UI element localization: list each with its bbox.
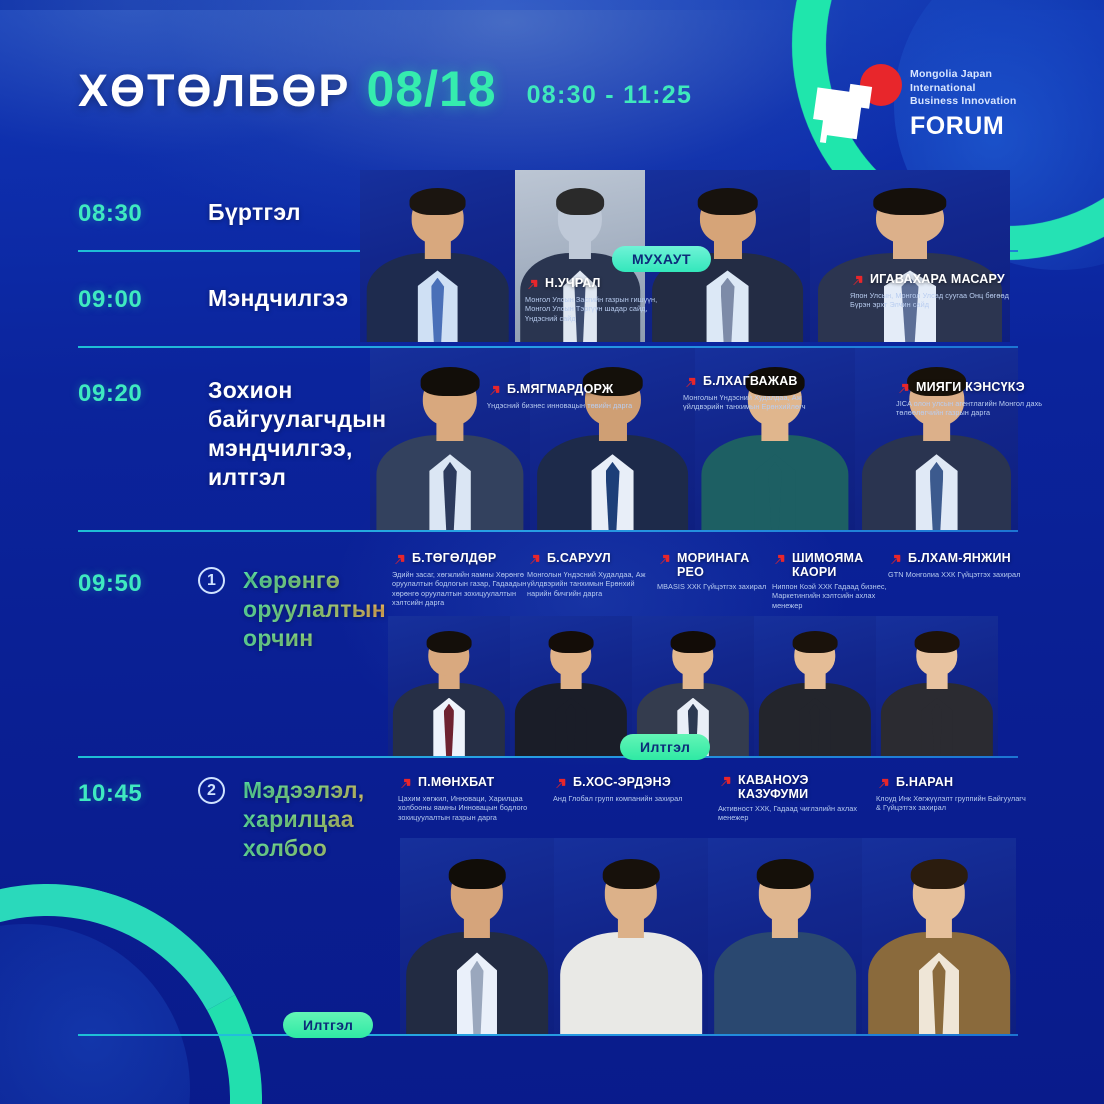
speaker-name: П.МӨНХБАТ (418, 775, 494, 789)
agenda-time: 09:50 (78, 570, 142, 598)
speaker-name: Б.САРУУЛ (547, 551, 611, 565)
speaker-role: Монголын Үндэсний Худалдаа, Аж үйлдвэрий… (527, 570, 657, 598)
arrow-up-right-icon (683, 375, 698, 390)
logo-line-2: International (910, 82, 1034, 96)
bottom-left-glow-decoration (0, 924, 190, 1104)
speaker-photo (530, 348, 695, 530)
speaker-role: Ниппон Коэй ХХК Гадаад бизнес, Маркетинг… (772, 582, 894, 610)
arrow-up-right-icon (525, 277, 540, 292)
speaker-name-card: ИГАВАХАРА МАСАРУЯпон Улсын, Монгол Улсад… (850, 272, 1015, 310)
speaker-name: МИЯГИ КЭНСҮКЭ (916, 380, 1025, 394)
arrow-up-right-icon (553, 776, 568, 791)
speaker-name-card: П.МӨНХБАТЦахим хөгжил, Инноваци, Харилца… (398, 775, 553, 822)
speaker-name: Б.ТӨГӨЛДӨР (412, 551, 496, 565)
logo-line-1: Mongolia Japan (910, 68, 1034, 82)
speaker-photo (876, 616, 998, 756)
speaker-name: Н.УЧРАЛ (545, 276, 601, 290)
arrow-up-right-icon (392, 552, 407, 567)
speaker-name-card: Н.УЧРАЛМонгол Улсын Засгийн газрын гишүү… (525, 276, 675, 323)
speaker-photo (708, 838, 862, 1034)
row-divider (78, 530, 1018, 532)
agenda-title: Мэдээлэл, харилцаа холбоо (243, 776, 413, 863)
speaker-name-card: Б.ХОС-ЭРДЭНЭАнд Глобал групп компанийн з… (553, 775, 703, 803)
speaker-name: ШИМОЯМА КАОРИ (792, 551, 894, 579)
speaker-role: MBASIS ХХК Гүйцэтгэх захирал (657, 582, 777, 591)
arrow-up-right-icon (876, 776, 891, 791)
speaker-name-card: Б.ЛХАМ-ЯНЖИНGTN Монголиа ХХК Гүйцэтгэх з… (888, 551, 1023, 579)
speaker-name-card: Б.САРУУЛМонголын Үндэсний Худалдаа, Аж ү… (527, 551, 657, 598)
bottom-left-arc-decoration (0, 833, 313, 1104)
agenda-session-number: 2 (198, 777, 225, 804)
arrow-up-right-icon (896, 381, 911, 396)
agenda-time: 10:45 (78, 780, 142, 808)
arrow-up-right-icon (772, 552, 787, 567)
speaker-photo (554, 838, 708, 1034)
title-block: ХӨТӨЛБӨР 08/18 08:30 - 11:25 (78, 60, 692, 118)
agenda-time: 09:20 (78, 380, 142, 408)
speaker-name-card: КАВАНОУЭ КАЗУФУМИАктивност ХХК, Гадаад ч… (718, 773, 858, 823)
speaker-name: Б.ХОС-ЭРДЭНЭ (573, 775, 671, 789)
agenda-time: 08:30 (78, 200, 142, 228)
logo-forum-text: FORUM (910, 112, 1034, 141)
pill-mukhaut: МУХАУТ (612, 246, 711, 272)
arrow-up-right-icon (398, 776, 413, 791)
program-poster: ХӨТӨЛБӨР 08/18 08:30 - 11:25 Mongolia Ja… (0, 0, 1104, 1104)
speaker-photo (862, 838, 1016, 1034)
speaker-role: Үндэсний бизнес инновацын төвийн дарга (487, 401, 639, 410)
speaker-photo-strip (400, 838, 1016, 1034)
arrow-up-right-icon (527, 552, 542, 567)
speaker-photo (510, 616, 632, 756)
speaker-role: Анд Глобал групп компанийн захирал (553, 794, 703, 803)
speaker-name: Б.НАРАН (896, 775, 953, 789)
speaker-role: JICA олон улсын агентлагийн Монгол дахь … (896, 399, 1048, 418)
arrow-up-right-icon (718, 774, 733, 789)
speaker-name-card: Б.ЛХАГВАЖАВМонголын Үндэсний Худалдаа, А… (683, 374, 833, 412)
agenda-time: 09:00 (78, 286, 142, 314)
speaker-name: Б.ЛХАГВАЖАВ (703, 374, 798, 388)
speaker-name-card: ШИМОЯМА КАОРИНиппон Коэй ХХК Гадаад бизн… (772, 551, 894, 610)
arrow-up-right-icon (812, 82, 886, 148)
speaker-role: Монгол Улсын Засгийн газрын гишүүн, Монг… (525, 295, 675, 323)
speaker-name-card: Б.ТӨГӨЛДӨРЭдийн засаг, хөгжлийн яамны Хө… (392, 551, 547, 607)
speaker-role: Цахим хөгжил, Инноваци, Харилцаа холбоон… (398, 794, 553, 822)
speaker-name: Б.ЛХАМ-ЯНЖИН (908, 551, 1011, 565)
speaker-role: Клоуд Инк Хөгжүүлэлт группийн Байгуулагч… (876, 794, 1026, 813)
speaker-name-card: Б.НАРАНКлоуд Инк Хөгжүүлэлт группийн Бай… (876, 775, 1026, 813)
speaker-role: GTN Монголиа ХХК Гүйцэтгэх захирал (888, 570, 1023, 579)
agenda-title: Мэндчилгээ (208, 284, 378, 313)
row-divider (78, 756, 1018, 758)
logo-mark (812, 64, 902, 148)
arrow-up-right-icon (657, 552, 672, 567)
speaker-name: МОРИНАГА РЕО (677, 551, 777, 579)
agenda-title: Хөрөнгө оруулалтын орчин (243, 566, 413, 653)
pill-iltgel-1: Илтгэл (620, 734, 710, 760)
row-divider (78, 1034, 1018, 1036)
speaker-name-card: МИЯГИ КЭНСҮКЭJICA олон улсын агентлагийн… (896, 380, 1048, 418)
event-time-range: 08:30 - 11:25 (527, 81, 693, 110)
page-title: ХӨТӨЛБӨР (78, 65, 350, 117)
logo-wordmark: Mongolia Japan International Business In… (910, 68, 1034, 141)
logo-line-3: Business Innovation (910, 95, 1034, 109)
speaker-photo (400, 838, 554, 1034)
forum-logo: Mongolia Japan International Business In… (812, 58, 1032, 154)
speaker-name: Б.МЯГМАРДОРЖ (507, 382, 613, 396)
arrow-up-right-icon (850, 273, 865, 288)
speaker-photo (810, 170, 1010, 342)
pill-iltgel-2: Илтгэл (283, 1012, 373, 1038)
arrow-up-right-icon (487, 383, 502, 398)
top-band-decoration (0, 0, 1104, 10)
poster-header: ХӨТӨЛБӨР 08/18 08:30 - 11:25 Mongolia Ja… (0, 52, 1104, 162)
agenda-title: Зохион байгуулагчдын мэндчилгээ, илтгэл (208, 376, 378, 492)
agenda-session-number: 1 (198, 567, 225, 594)
speaker-role: Эдийн засаг, хөгжлийн яамны Хөрөнгө оруу… (392, 570, 547, 607)
speaker-photo (855, 348, 1018, 530)
arrow-up-right-icon (888, 552, 903, 567)
speaker-role: Активност ХХК, Гадаад чиглэлийн ахлах ме… (718, 804, 858, 823)
speaker-name-card: МОРИНАГА РЕОMBASIS ХХК Гүйцэтгэх захирал (657, 551, 777, 591)
speaker-photo (360, 170, 515, 342)
speaker-photo (754, 616, 876, 756)
speaker-name: КАВАНОУЭ КАЗУФУМИ (738, 773, 858, 801)
event-date: 08/18 (366, 60, 496, 118)
agenda-title: Бүртгэл (208, 198, 378, 227)
speaker-role: Монголын Үндэсний Худалдаа, Аж үйлдвэрий… (683, 393, 833, 412)
speaker-name-card: Б.МЯГМАРДОРЖҮндэсний бизнес инновацын тө… (487, 382, 639, 410)
speaker-photo (370, 348, 530, 530)
speaker-name: ИГАВАХАРА МАСАРУ (870, 272, 1005, 286)
speaker-role: Япон Улсын, Монгол Улсад суугаа Онц бөгө… (850, 291, 1015, 310)
